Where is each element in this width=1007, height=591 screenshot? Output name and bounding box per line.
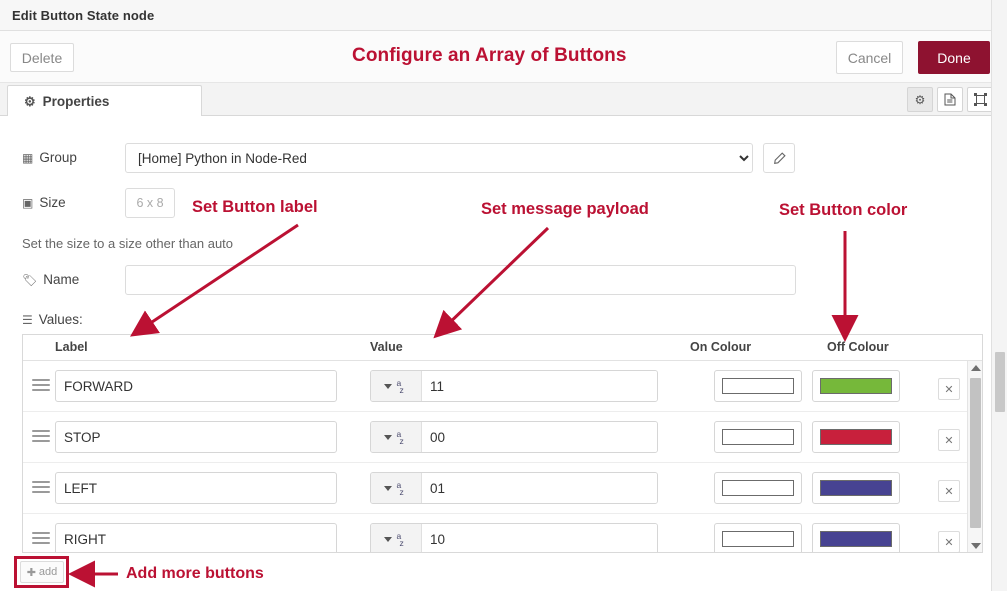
group-select[interactable]: [Home] Python in Node-Red: [125, 143, 753, 173]
table-row: az ✕: [23, 463, 982, 514]
table-row: az ✕: [23, 361, 982, 412]
row-value-input[interactable]: [422, 524, 657, 552]
grid-icon: ▦: [22, 151, 33, 165]
off-colour-picker[interactable]: [812, 523, 900, 552]
document-icon: [944, 93, 956, 106]
on-colour-swatch: [722, 378, 794, 394]
drag-handle-icon[interactable]: [32, 428, 50, 444]
values-table-header: Label Value On Colour Off Colour: [23, 335, 982, 361]
remove-row-button[interactable]: ✕: [938, 378, 960, 400]
chevron-down-icon: [384, 435, 392, 440]
row-label-input[interactable]: [55, 523, 337, 552]
page-scrollbar-thumb[interactable]: [995, 352, 1005, 412]
row-label-input[interactable]: [55, 421, 337, 453]
name-input[interactable]: [125, 265, 796, 295]
size-row-label: ▣ Size: [22, 195, 66, 210]
column-header-value: Value: [370, 340, 403, 354]
values-rows: az ✕ az: [23, 361, 982, 552]
size-label-text: Size: [39, 195, 65, 210]
tag-icon: 🏷: [22, 273, 37, 287]
tab-properties-label: Properties: [43, 94, 110, 109]
value-type-dropdown[interactable]: az: [371, 524, 422, 552]
row-label-input[interactable]: [55, 472, 337, 504]
scroll-up-icon[interactable]: [968, 361, 983, 374]
values-row-label: ☰ Values:: [22, 312, 83, 327]
row-value-field: az: [370, 370, 658, 402]
row-label-input[interactable]: [55, 370, 337, 402]
row-value-input[interactable]: [422, 422, 657, 452]
on-colour-picker[interactable]: [714, 370, 802, 402]
annotation-add-more-buttons: Add more buttons: [126, 565, 264, 583]
remove-row-button[interactable]: ✕: [938, 531, 960, 552]
resize-icon: ▣: [22, 196, 33, 210]
value-type-dropdown[interactable]: az: [371, 422, 422, 452]
on-colour-swatch: [722, 531, 794, 547]
group-label-text: Group: [39, 150, 77, 165]
drag-handle-icon[interactable]: [32, 479, 50, 495]
column-header-on-colour: On Colour: [690, 340, 751, 354]
page-scrollbar[interactable]: [991, 0, 1007, 591]
done-button[interactable]: Done: [918, 41, 990, 74]
on-colour-swatch: [722, 480, 794, 496]
table-row: az ✕: [23, 514, 982, 552]
row-value-input[interactable]: [422, 371, 657, 401]
drag-handle-icon[interactable]: [32, 377, 50, 393]
size-hint-text: Set the size to a size other than auto: [22, 236, 233, 251]
on-colour-picker[interactable]: [714, 523, 802, 552]
list-icon: ☰: [22, 313, 33, 327]
on-colour-swatch: [722, 429, 794, 445]
value-type-dropdown[interactable]: az: [371, 473, 422, 503]
tab-properties[interactable]: ⚙ Properties: [7, 85, 202, 117]
annotation-set-message-payload: Set message payload: [481, 200, 649, 219]
off-colour-swatch: [820, 480, 892, 496]
document-icon-button[interactable]: [937, 87, 963, 112]
chevron-down-icon: [384, 486, 392, 491]
tab-bar: ⚙ Properties ⚙: [0, 83, 1001, 116]
delete-button[interactable]: Delete: [10, 43, 74, 72]
chevron-down-icon: [384, 384, 392, 389]
cancel-button[interactable]: Cancel: [836, 41, 903, 74]
values-table: Label Value On Colour Off Colour az: [22, 334, 983, 553]
group-edit-button[interactable]: [763, 143, 795, 173]
off-colour-swatch: [820, 378, 892, 394]
pencil-icon: [773, 152, 786, 165]
off-colour-picker[interactable]: [812, 472, 900, 504]
annotation-set-button-label: Set Button label: [192, 198, 318, 217]
add-row-button[interactable]: ✚ add: [20, 561, 64, 583]
values-list-scrollbar[interactable]: [967, 361, 982, 552]
off-colour-swatch: [820, 429, 892, 445]
remove-row-button[interactable]: ✕: [938, 480, 960, 502]
on-colour-picker[interactable]: [714, 472, 802, 504]
name-row-label: 🏷 Name: [22, 272, 79, 287]
row-value-field: az: [370, 523, 658, 552]
column-header-label: Label: [55, 340, 88, 354]
off-colour-picker[interactable]: [812, 370, 900, 402]
table-row: az ✕: [23, 412, 982, 463]
off-colour-swatch: [820, 531, 892, 547]
size-button[interactable]: 6 x 8: [125, 188, 175, 218]
off-colour-picker[interactable]: [812, 421, 900, 453]
string-type-icon: az: [397, 531, 409, 547]
string-type-icon: az: [397, 429, 409, 445]
add-row-label: add: [39, 566, 57, 578]
name-label-text: Name: [43, 272, 79, 287]
on-colour-picker[interactable]: [714, 421, 802, 453]
appearance-icon-button[interactable]: [967, 87, 993, 112]
chevron-down-icon: [384, 537, 392, 542]
panel-toggle-group: ⚙: [907, 87, 993, 112]
headline-annotation: Configure an Array of Buttons: [352, 45, 627, 67]
plus-icon: ✚: [27, 566, 36, 579]
resize-icon: [974, 93, 987, 106]
row-value-field: az: [370, 421, 658, 453]
column-header-off-colour: Off Colour: [827, 340, 889, 354]
string-type-icon: az: [397, 378, 409, 394]
edit-node-dialog: Edit Button State node Delete Configure …: [0, 0, 1007, 591]
dialog-titlebar: Edit Button State node: [0, 0, 1001, 31]
gear-icon-button[interactable]: ⚙: [907, 87, 933, 112]
group-row-label: ▦ Group: [22, 150, 77, 165]
scroll-down-icon[interactable]: [968, 539, 983, 552]
remove-row-button[interactable]: ✕: [938, 429, 960, 451]
row-value-input[interactable]: [422, 473, 657, 503]
annotation-set-button-color: Set Button color: [779, 201, 907, 220]
value-type-dropdown[interactable]: az: [371, 371, 422, 401]
dialog-title: Edit Button State node: [12, 8, 154, 23]
drag-handle-icon[interactable]: [32, 530, 50, 546]
row-value-field: az: [370, 472, 658, 504]
gear-icon: ⚙: [24, 94, 36, 110]
string-type-icon: az: [397, 480, 409, 496]
scrollbar-thumb[interactable]: [970, 378, 981, 528]
values-label-text: Values:: [39, 312, 83, 327]
